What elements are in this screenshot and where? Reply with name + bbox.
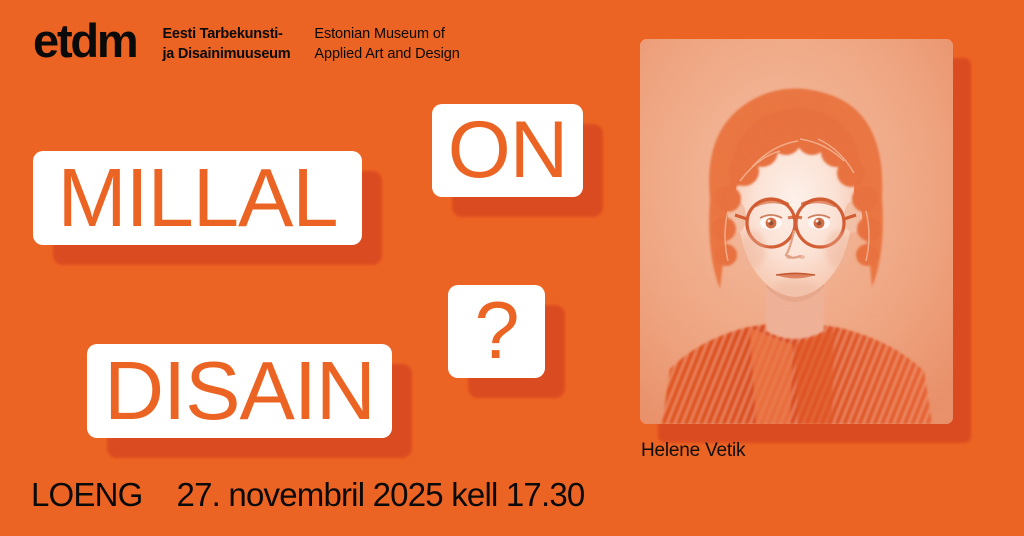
headline-tile-on: ON (432, 104, 583, 197)
museum-name-group: Eesti Tarbekunsti- ja Disainimuuseum Est… (163, 24, 460, 64)
headline-tile-disain: DISAIN (87, 344, 392, 438)
museum-name-english-line1: Estonian Museum of (314, 24, 459, 44)
event-datetime: 27. novembril 2025 kell 17.30 (177, 476, 585, 514)
museum-name-estonian-line1: Eesti Tarbekunsti- (163, 24, 291, 44)
museum-name-english-line2: Applied Art and Design (314, 44, 459, 64)
portrait-illustration (640, 39, 953, 424)
museum-name-english: Estonian Museum of Applied Art and Desig… (314, 24, 459, 64)
museum-logo-header: etdm Eesti Tarbekunsti- ja Disainimuuseu… (33, 17, 460, 64)
poster-canvas: etdm Eesti Tarbekunsti- ja Disainimuuseu… (0, 0, 1024, 536)
portrait-caption: Helene Vetik (641, 440, 745, 462)
event-footer: LOENG 27. novembril 2025 kell 17.30 (31, 476, 584, 514)
headline-tile-millal: MILLAL (33, 151, 362, 245)
headline-tile-question-mark: ? (448, 285, 545, 378)
etdm-wordmark-logo: etdm (33, 19, 137, 62)
museum-name-estonian: Eesti Tarbekunsti- ja Disainimuuseum (163, 24, 291, 64)
portrait-photo (640, 39, 953, 424)
museum-name-estonian-line2: ja Disainimuuseum (163, 44, 291, 64)
event-type-label: LOENG (31, 476, 143, 514)
